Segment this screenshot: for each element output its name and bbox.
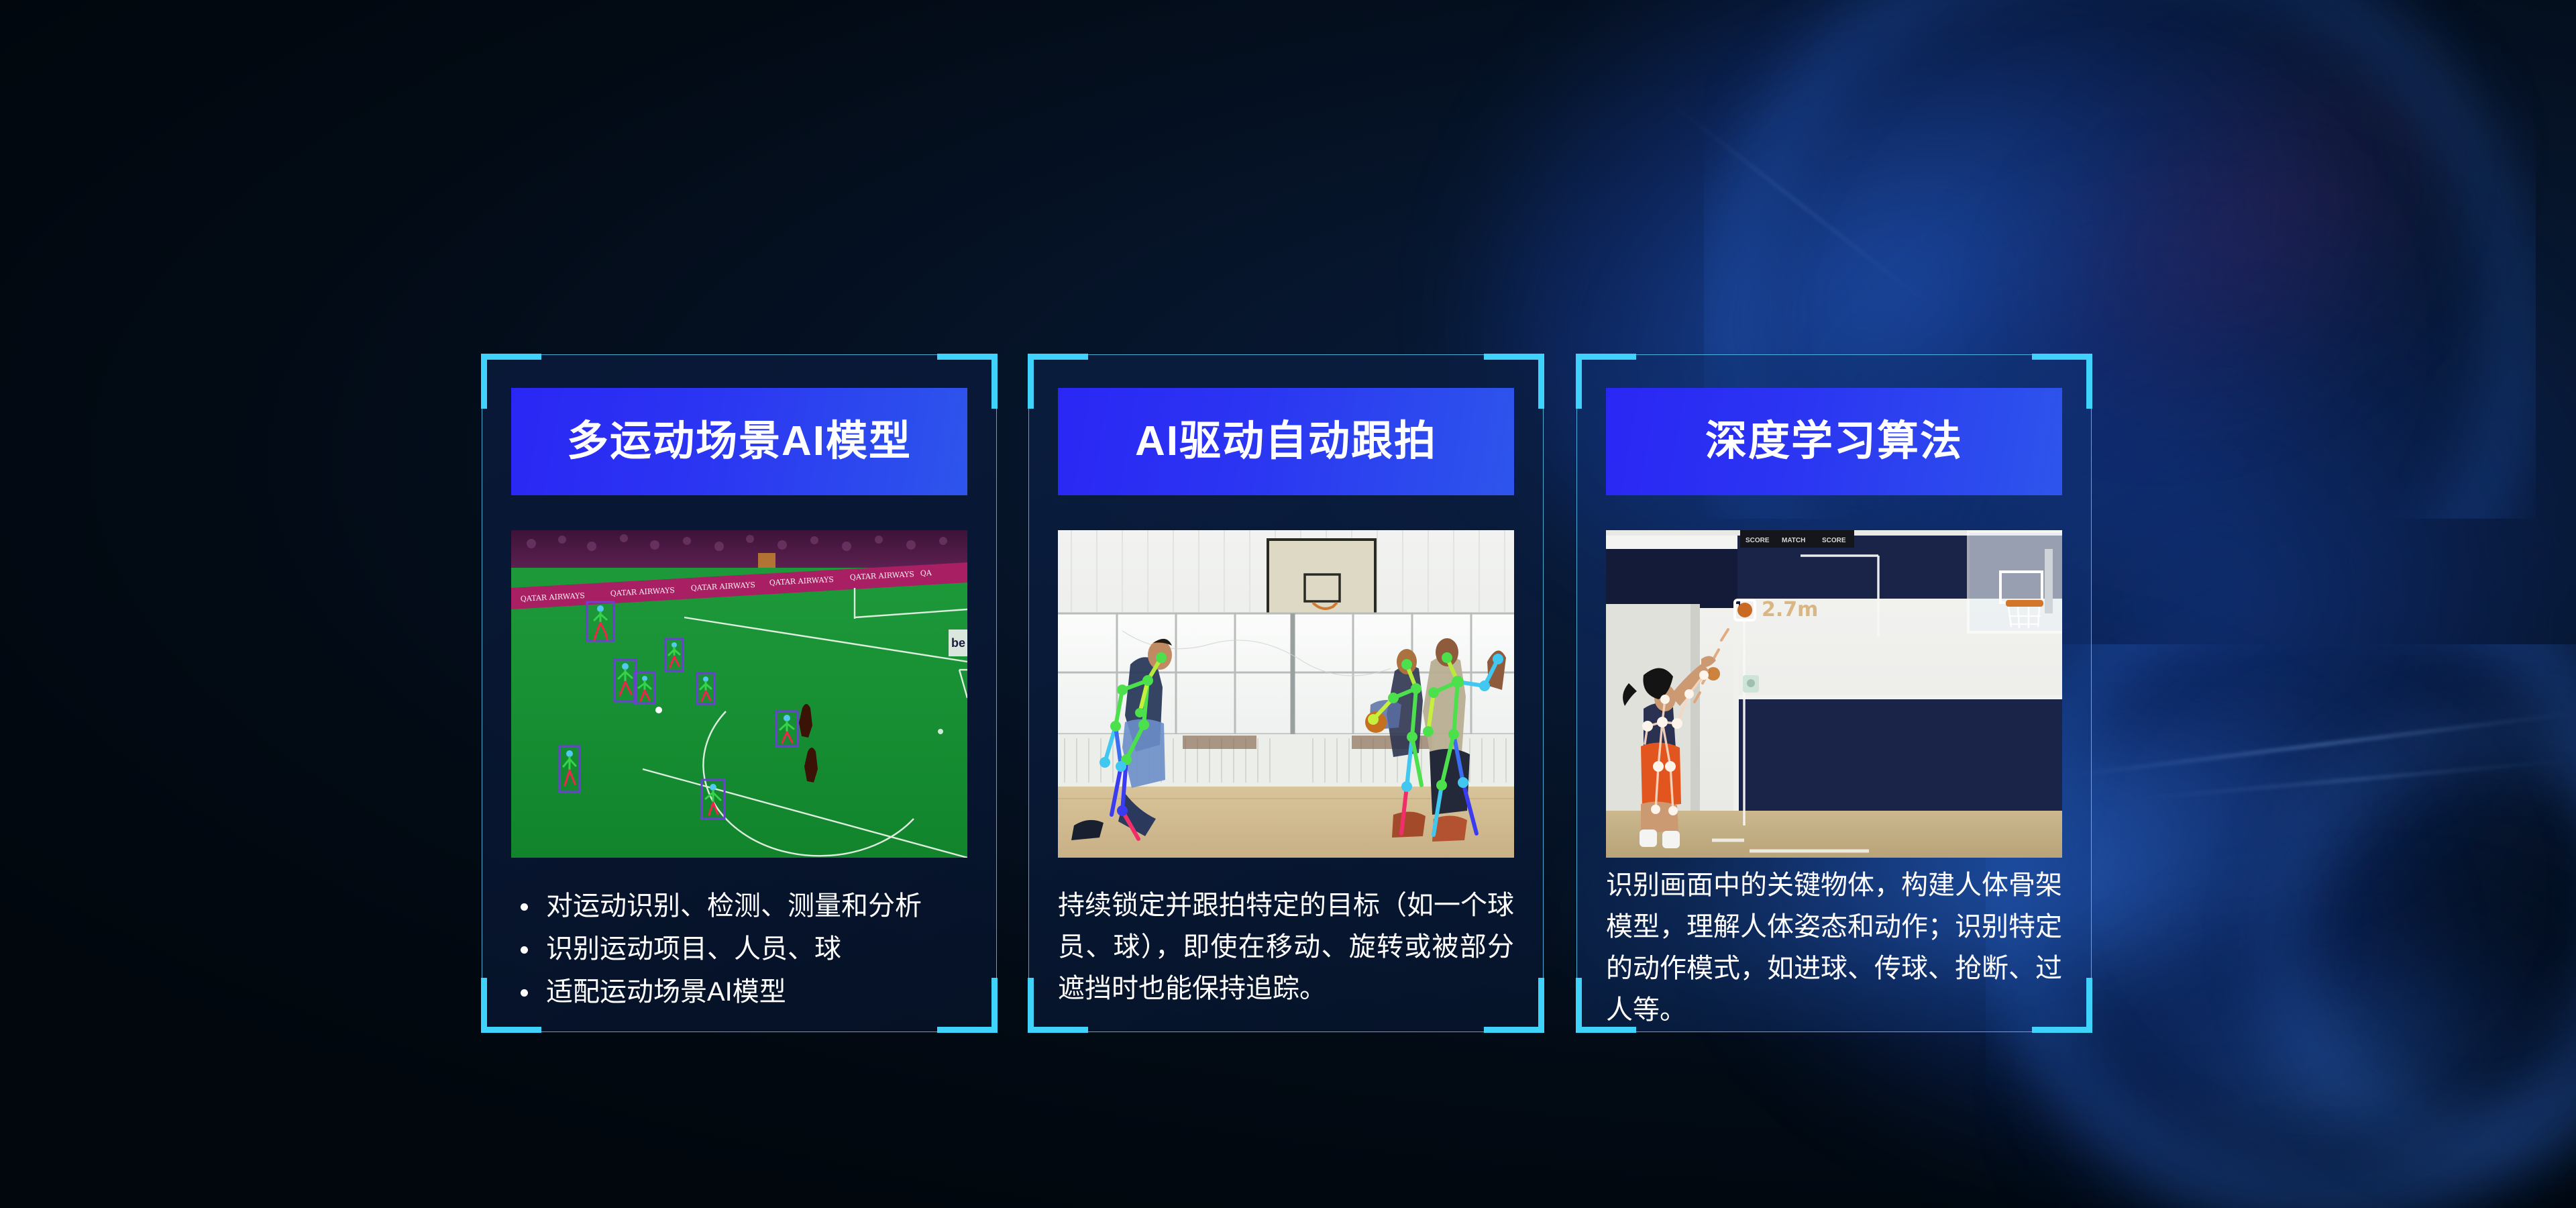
feature-card-deep-learning-algorithm[interactable]: 深度学习算法: [1576, 354, 2092, 1032]
feature-bullet-list: 对运动识别、检测、测量和分析 识别运动项目、人员、球 适配运动场景AI模型: [511, 885, 967, 1013]
card-header-banner: 深度学习算法: [1606, 388, 2062, 495]
bullet-item: 适配运动场景AI模型: [511, 970, 967, 1013]
svg-text:SCORE: SCORE: [1746, 537, 1770, 544]
feature-card-multi-sport-ai-model[interactable]: 多运动场景AI模型: [482, 354, 997, 1032]
card-header-banner: 多运动场景AI模型: [511, 388, 967, 495]
feature-description: 持续锁定并跟拍特定的目标（如一个球员、球），即使在移动、旋转或被部分遮挡时也能保…: [1058, 885, 1514, 1009]
feature-card-deck: 多运动场景AI模型: [0, 0, 2576, 1208]
basketball-gym-pose-thumbnail: [1058, 530, 1514, 858]
card-body: 识别画面中的关键物体，构建人体骨架模型，理解人体姿态和动作；识别特定的动作模式，…: [1606, 864, 2062, 1031]
card-title: AI驱动自动跟拍: [1135, 421, 1437, 462]
distance-label: 2.7m: [1762, 598, 1818, 621]
basketball-shot-measurement-thumbnail: SCOREMATCHSCORE: [1606, 530, 2062, 858]
svg-text:be: be: [951, 636, 965, 650]
svg-text:QA: QA: [920, 568, 932, 578]
soccer-pose-detection-thumbnail: QATAR AIRWAYS QATAR AIRWAYS QATAR AIRWAY…: [511, 530, 967, 858]
card-title: 深度学习算法: [1705, 421, 1963, 462]
card-title: 多运动场景AI模型: [567, 421, 912, 462]
svg-text:MATCH: MATCH: [1782, 537, 1805, 544]
feature-description: 识别画面中的关键物体，构建人体骨架模型，理解人体姿态和动作；识别特定的动作模式，…: [1606, 864, 2062, 1031]
feature-card-ai-auto-tracking[interactable]: AI驱动自动跟拍: [1028, 354, 1544, 1032]
bullet-item: 识别运动项目、人员、球: [511, 927, 967, 970]
card-body: 对运动识别、检测、测量和分析 识别运动项目、人员、球 适配运动场景AI模型: [511, 885, 967, 1013]
card-body: 持续锁定并跟拍特定的目标（如一个球员、球），即使在移动、旋转或被部分遮挡时也能保…: [1058, 885, 1514, 1009]
bullet-item: 对运动识别、检测、测量和分析: [511, 885, 967, 927]
card-header-banner: AI驱动自动跟拍: [1058, 388, 1514, 495]
svg-text:SCORE: SCORE: [1822, 537, 1846, 544]
